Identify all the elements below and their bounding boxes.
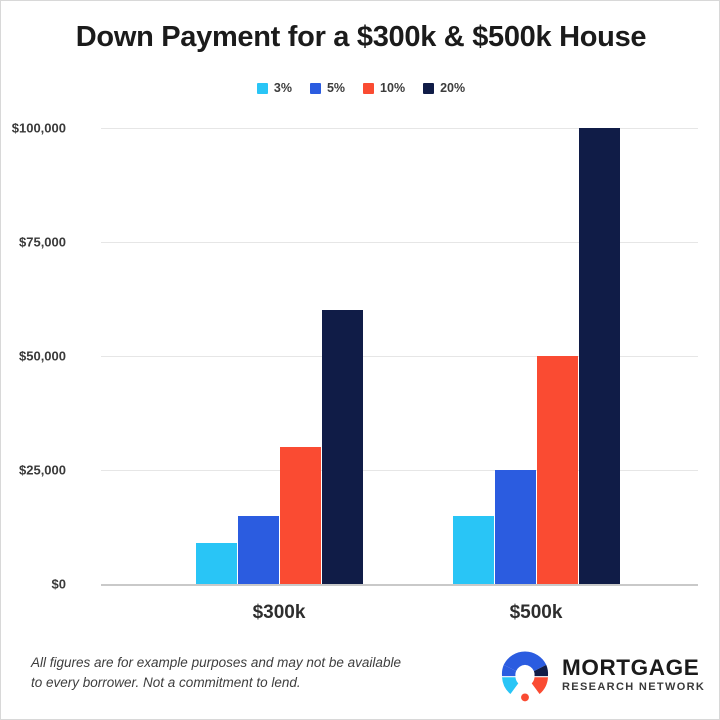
legend-item-20pct[interactable]: 20% — [423, 81, 465, 95]
logo-wordmark: MORTGAGE RESEARCH NETWORK — [562, 657, 705, 694]
disclaimer-line-2: to every borrower. Not a commitment to l… — [31, 673, 491, 693]
logo-secondary-text: RESEARCH NETWORK — [562, 682, 705, 693]
y-axis-tick-label: $0 — [0, 577, 66, 592]
chart-title: Down Payment for a $300k & $500k House — [1, 21, 720, 54]
legend-item-5pct[interactable]: 5% — [310, 81, 345, 95]
bar-300k-3pct[interactable] — [196, 543, 237, 584]
legend-item-3pct[interactable]: 3% — [257, 81, 292, 95]
gridline — [101, 584, 698, 586]
logo-primary-text: MORTGAGE — [562, 657, 705, 680]
legend-label: 5% — [327, 81, 345, 95]
bar-500k-20pct[interactable] — [579, 128, 620, 584]
chart-card: Down Payment for a $300k & $500k House 3… — [0, 0, 720, 720]
disclaimer-line-1: All figures are for example purposes and… — [31, 653, 491, 673]
legend-item-10pct[interactable]: 10% — [363, 81, 405, 95]
legend-swatch-icon — [310, 83, 321, 94]
brand-logo: MORTGAGE RESEARCH NETWORK — [497, 647, 705, 703]
bar-300k-20pct[interactable] — [322, 310, 363, 584]
legend-label: 10% — [380, 81, 405, 95]
bar-500k-3pct[interactable] — [453, 516, 494, 584]
y-axis-tick-label: $50,000 — [0, 349, 66, 364]
bar-500k-10pct[interactable] — [537, 356, 578, 584]
legend-label: 3% — [274, 81, 292, 95]
x-axis-tick-label: $300k — [253, 602, 306, 624]
y-axis-tick-label: $75,000 — [0, 235, 66, 250]
legend-swatch-icon — [423, 83, 434, 94]
y-axis-tick-label: $25,000 — [0, 463, 66, 478]
chart-legend: 3%5%10%20% — [1, 81, 720, 95]
x-axis-tick-label: $500k — [510, 602, 563, 624]
disclaimer-text: All figures are for example purposes and… — [31, 653, 491, 694]
gauge-logo-icon — [497, 647, 553, 703]
bar-500k-5pct[interactable] — [495, 470, 536, 584]
plot-area: $0$25,000$50,000$75,000$100,000$300k$500… — [101, 128, 698, 584]
bar-300k-5pct[interactable] — [238, 516, 279, 584]
legend-label: 20% — [440, 81, 465, 95]
y-axis-tick-label: $100,000 — [0, 121, 66, 136]
legend-swatch-icon — [363, 83, 374, 94]
legend-swatch-icon — [257, 83, 268, 94]
bar-300k-10pct[interactable] — [280, 447, 321, 584]
